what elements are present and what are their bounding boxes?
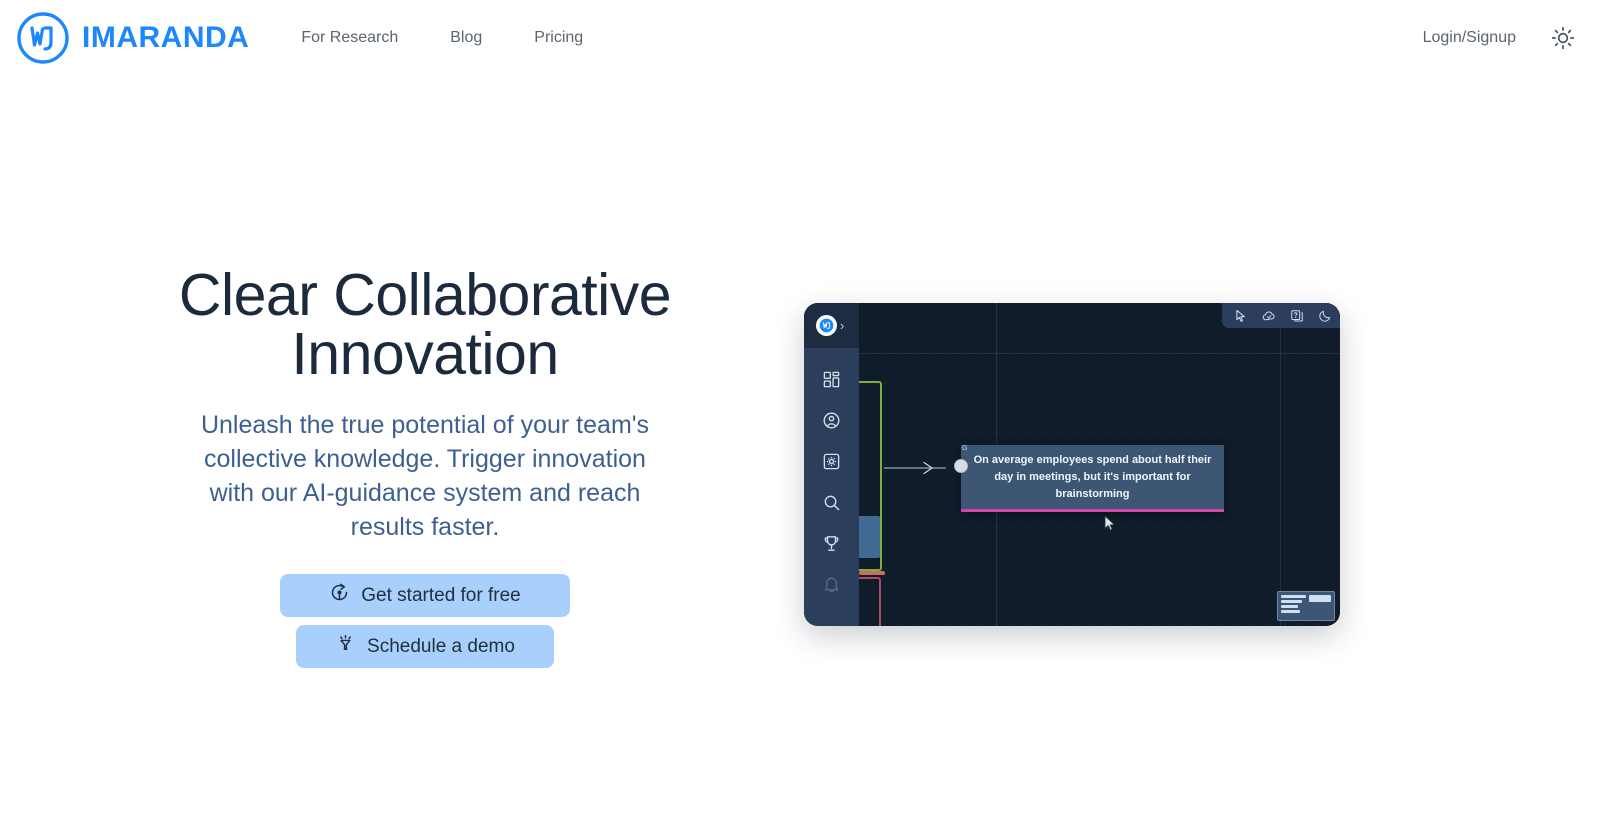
app-sidebar-header[interactable]: › — [804, 303, 859, 348]
hero-copy: Clear Collaborative Innovation Unleash t… — [0, 76, 790, 668]
page-title: Clear Collaborative Innovation — [145, 266, 705, 384]
app-canvas[interactable]: G On average employees spend about half … — [804, 303, 1340, 626]
sidebar-item-dashboard[interactable] — [822, 370, 841, 389]
sticky-note[interactable]: G On average employees spend about half … — [961, 445, 1224, 512]
hero-section: Clear Collaborative Innovation Unleash t… — [0, 76, 1600, 834]
note-text: On average employees spend about half th… — [970, 452, 1215, 503]
sidebar-item-profile[interactable] — [822, 411, 841, 430]
canvas-card-blue[interactable] — [857, 516, 880, 558]
note-drag-handle[interactable] — [954, 459, 968, 473]
get-started-button[interactable]: Get started for free — [280, 574, 570, 617]
sidebar-item-achievements[interactable] — [822, 534, 841, 553]
idea-highlighter-icon — [335, 633, 356, 660]
cursor-arrow-icon[interactable] — [1234, 309, 1248, 323]
site-header: IMARANDA For Research Blog Pricing Login… — [0, 0, 1600, 76]
app-toolbar — [1222, 303, 1340, 328]
login-signup-link[interactable]: Login/Signup — [1423, 29, 1516, 47]
hero-subtitle: Unleash the true potential of your team'… — [185, 408, 665, 544]
cta-group: Get started for free Schedule a demo — [60, 574, 790, 668]
imaranda-circle-wave-logo-icon — [14, 9, 72, 67]
canvas-minimap[interactable] — [1277, 591, 1335, 621]
help-card-icon[interactable] — [1290, 309, 1304, 323]
schedule-demo-button[interactable]: Schedule a demo — [296, 625, 554, 668]
nav-link-pricing[interactable]: Pricing — [508, 29, 609, 47]
get-started-label: Get started for free — [361, 585, 520, 607]
app-sidebar-items — [804, 348, 859, 594]
mouse-cursor-icon — [1104, 515, 1116, 532]
sidebar-item-settings[interactable] — [822, 452, 841, 471]
rotate-target-icon — [329, 582, 350, 609]
header-actions: Login/Signup — [1423, 25, 1576, 51]
nav-link-blog[interactable]: Blog — [424, 29, 508, 47]
connector-arrow-icon — [884, 461, 962, 475]
sidebar-item-notifications[interactable] — [822, 575, 841, 594]
sun-icon[interactable] — [1550, 25, 1576, 51]
cloud-check-icon[interactable] — [1262, 309, 1276, 323]
brand-name: IMARANDA — [82, 21, 249, 55]
sidebar-item-search[interactable] — [822, 493, 841, 512]
nav-link-for-research[interactable]: For Research — [275, 29, 424, 47]
brand-logo[interactable]: IMARANDA — [14, 9, 249, 67]
imaranda-mark-icon — [816, 315, 837, 336]
canvas-frame-tab — [859, 571, 885, 575]
schedule-demo-label: Schedule a demo — [367, 636, 515, 658]
note-author-badge: G — [962, 445, 967, 452]
moon-icon[interactable] — [1318, 309, 1332, 323]
chevron-right-icon[interactable]: › — [840, 319, 844, 332]
main-nav: For Research Blog Pricing — [275, 29, 609, 47]
app-preview: G On average employees spend about half … — [804, 303, 1340, 626]
app-sidebar: › — [804, 303, 859, 626]
